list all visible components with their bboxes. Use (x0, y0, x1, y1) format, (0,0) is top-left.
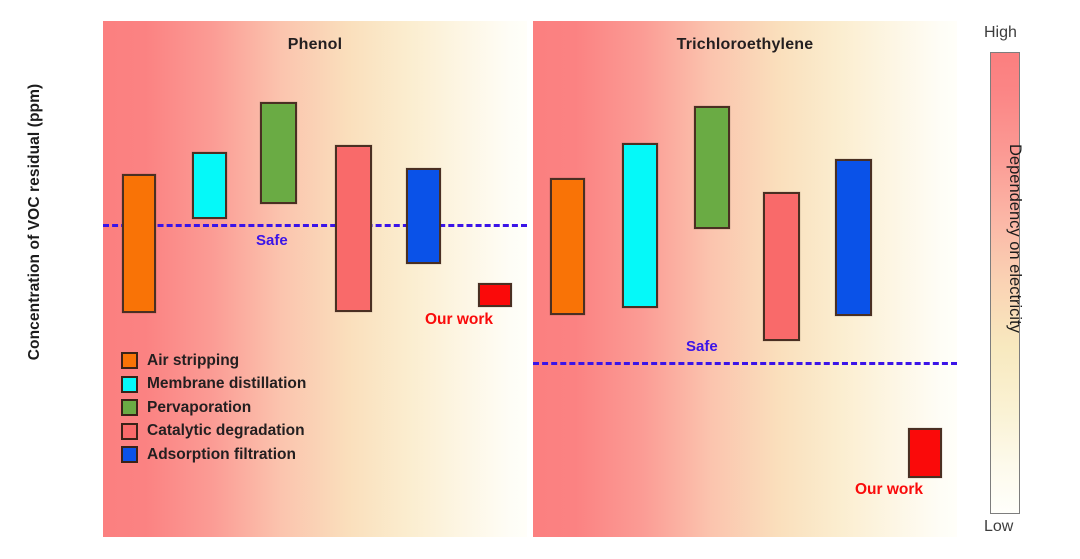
legend-swatch-icon (121, 446, 138, 463)
panel-trichloroethylene: Trichloroethylene (533, 21, 957, 537)
bar-catalytic-degradation[interactable] (763, 192, 800, 341)
safe-threshold-label: Safe (686, 338, 718, 355)
bar-membrane-distillation[interactable] (622, 143, 658, 308)
colorbar-low-label: Low (984, 518, 1013, 536)
bar-catalytic-degradation[interactable] (335, 145, 372, 312)
legend-swatch-icon (121, 399, 138, 416)
bar-our-work[interactable] (478, 283, 512, 307)
our-work-label: Our work (425, 311, 493, 329)
legend-item-membrane-distillation[interactable]: Membrane distillation (121, 373, 306, 397)
legend-item-adsorption-filtration[interactable]: Adsorption filtration (121, 443, 306, 467)
panel-background-gradient (533, 21, 957, 537)
bar-adsorption-filtration[interactable] (835, 159, 872, 316)
panel-title-trichloroethylene: Trichloroethylene (533, 36, 957, 54)
legend-item-label: Air stripping (147, 352, 239, 370)
colorbar-title: Dependency on electricity (1005, 144, 1024, 424)
panel-title-phenol: Phenol (103, 36, 527, 54)
y-axis-label: Concentration of VOC residual (ppm) (26, 57, 44, 387)
colorbar-high-label: High (984, 24, 1017, 42)
legend-item-pervaporation[interactable]: Pervaporation (121, 396, 306, 420)
legend-swatch-icon (121, 423, 138, 440)
bar-air-stripping[interactable] (550, 178, 585, 315)
legend-swatch-icon (121, 352, 138, 369)
safe-threshold-line (103, 224, 527, 227)
our-work-label: Our work (855, 481, 923, 499)
legend-item-label: Adsorption filtration (147, 446, 296, 464)
legend-item-label: Membrane distillation (147, 375, 306, 393)
legend-item-catalytic-degradation[interactable]: Catalytic degradation (121, 420, 306, 444)
bar-membrane-distillation[interactable] (192, 152, 227, 219)
legend: Air strippingMembrane distillationPervap… (121, 349, 306, 467)
safe-threshold-label: Safe (256, 232, 288, 249)
legend-item-air-stripping[interactable]: Air stripping (121, 349, 306, 373)
bar-air-stripping[interactable] (122, 174, 156, 313)
bar-pervaporation[interactable] (260, 102, 297, 204)
legend-item-label: Catalytic degradation (147, 422, 305, 440)
legend-swatch-icon (121, 376, 138, 393)
safe-threshold-line (533, 362, 957, 365)
bar-our-work[interactable] (908, 428, 942, 478)
legend-item-label: Pervaporation (147, 399, 251, 417)
bar-pervaporation[interactable] (694, 106, 730, 229)
bar-adsorption-filtration[interactable] (406, 168, 441, 264)
